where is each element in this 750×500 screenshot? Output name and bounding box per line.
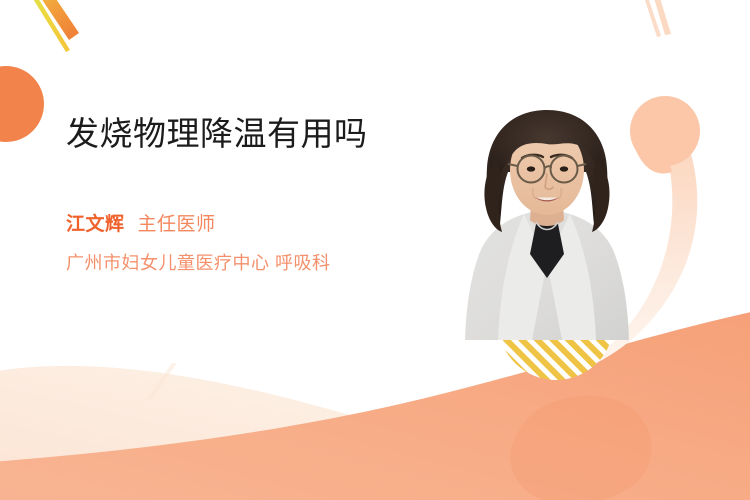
bottom-left-cream-wave	[0, 366, 750, 500]
text-block: 发烧物理降温有用吗 江文辉 主任医师 广州市妇女儿童医疗中心 呼吸科	[66, 112, 426, 275]
doctor-name: 江文辉	[66, 209, 125, 236]
left-orange-circle	[0, 66, 44, 142]
eye-right	[560, 166, 568, 171]
top-right-peach-stripe-a	[651, 0, 671, 35]
doctor-rank-title: 主任医师	[138, 209, 216, 236]
faint-diagonal-stripe	[147, 363, 177, 399]
doctor-affiliation: 广州市妇女儿童医疗中心 呼吸科	[66, 249, 426, 275]
eye-left	[527, 166, 535, 171]
page-title: 发烧物理降温有用吗	[66, 112, 406, 156]
top-left-orange-stripe	[33, 0, 79, 40]
doctor-portrait	[452, 102, 642, 352]
doctor-byline: 江文辉 主任医师	[66, 209, 426, 236]
top-right-peach-stripe-b	[641, 0, 661, 37]
top-left-yellow-stripe	[25, 0, 70, 52]
salmon-wave-inner-lobe	[510, 395, 651, 500]
doctor-video-cover-card: 发烧物理降温有用吗 江文辉 主任医师 广州市妇女儿童医疗中心 呼吸科	[0, 0, 750, 500]
